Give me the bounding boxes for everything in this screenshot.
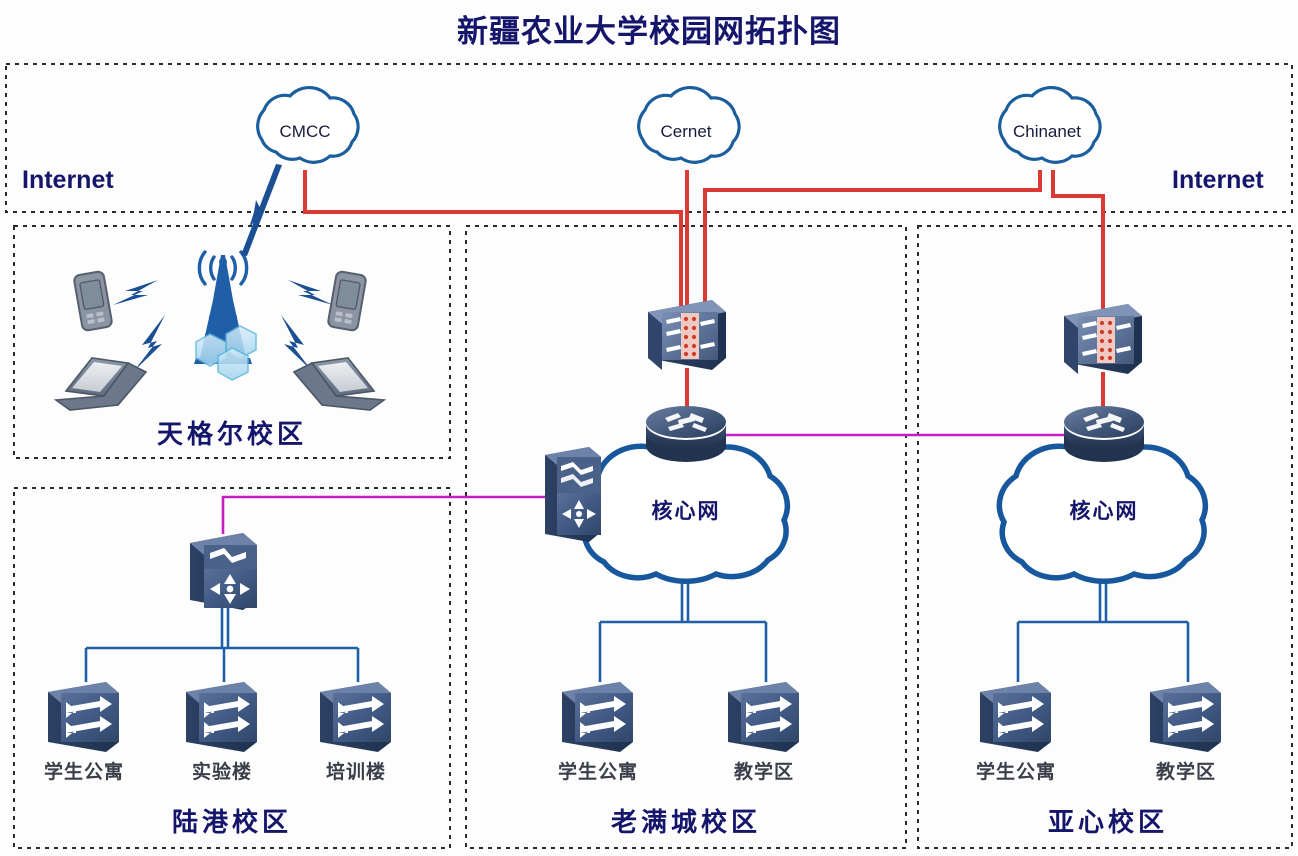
- core-router-laomancheng[interactable]: [646, 406, 726, 462]
- switch-label-yaxin-2: 教学区: [1136, 757, 1236, 784]
- bolt-bl: [134, 315, 165, 371]
- link-lugang-to-edge-switch: [223, 497, 545, 534]
- pda-icon-right: [327, 271, 366, 331]
- link-cmcc-wireless: [241, 164, 282, 256]
- switch-label-laomancheng-1: 学生公寓: [538, 757, 658, 784]
- core-switch-lugang[interactable]: [190, 533, 257, 610]
- switch-label-lugang-1: 学生公寓: [24, 757, 144, 784]
- access-switch-lugang-2[interactable]: [186, 682, 257, 752]
- access-switch-yaxin-2[interactable]: [1150, 682, 1221, 752]
- bolt-br: [281, 315, 312, 371]
- campus-label-lugang: 陆港校区: [84, 802, 380, 839]
- campus-label-yaxin: 亚心校区: [988, 802, 1228, 839]
- pda-icon-left: [73, 271, 112, 331]
- isp-label-cernet: Cernet: [650, 122, 722, 142]
- access-switch-laomancheng-2[interactable]: [728, 682, 799, 752]
- wireless-tower-icon: [113, 252, 333, 380]
- access-switch-lugang-1[interactable]: [48, 682, 119, 752]
- bolt-tr: [288, 280, 333, 305]
- core-cloud-label-yaxin: 核心网: [1048, 495, 1160, 525]
- firewall-laomancheng[interactable]: [648, 300, 726, 370]
- switch-label-yaxin-1: 学生公寓: [956, 757, 1076, 784]
- switch-label-laomancheng-2: 教学区: [714, 757, 814, 784]
- link-chinanet-to-firewall-right: [1053, 170, 1103, 316]
- access-switch-lugang-3[interactable]: [320, 682, 391, 752]
- page-title: 新疆农业大学校园网拓扑图: [0, 6, 1298, 51]
- campus-label-laomancheng: 老满城校区: [546, 802, 826, 839]
- switch-label-lugang-2: 实验楼: [172, 757, 272, 784]
- link-chinanet-left: [705, 170, 1040, 312]
- laptop-icon-right: [294, 358, 384, 410]
- access-switch-yaxin-1[interactable]: [980, 682, 1051, 752]
- firewall-yaxin[interactable]: [1064, 304, 1142, 374]
- access-switch-laomancheng-1[interactable]: [562, 682, 633, 752]
- isp-label-chinanet: Chinanet: [1004, 122, 1090, 142]
- bolt-tl: [113, 280, 158, 305]
- campus-label-tiangeer: 天格尔校区: [84, 414, 380, 451]
- isp-label-cmcc: CMCC: [272, 122, 338, 142]
- core-router-yaxin[interactable]: [1064, 406, 1144, 462]
- core-cloud-label-laomancheng: 核心网: [630, 495, 742, 525]
- topology-diagram: 新疆农业大学校园网拓扑图 Internet Internet CMCC Cern…: [0, 0, 1298, 856]
- internet-label-left: Internet: [22, 166, 114, 195]
- switch-label-lugang-3: 培训楼: [306, 757, 406, 784]
- internet-label-right: Internet: [1172, 166, 1264, 195]
- edge-switch-laomancheng[interactable]: [545, 447, 601, 542]
- laptop-icon-left: [56, 358, 146, 410]
- isp-links-red: [305, 170, 1103, 424]
